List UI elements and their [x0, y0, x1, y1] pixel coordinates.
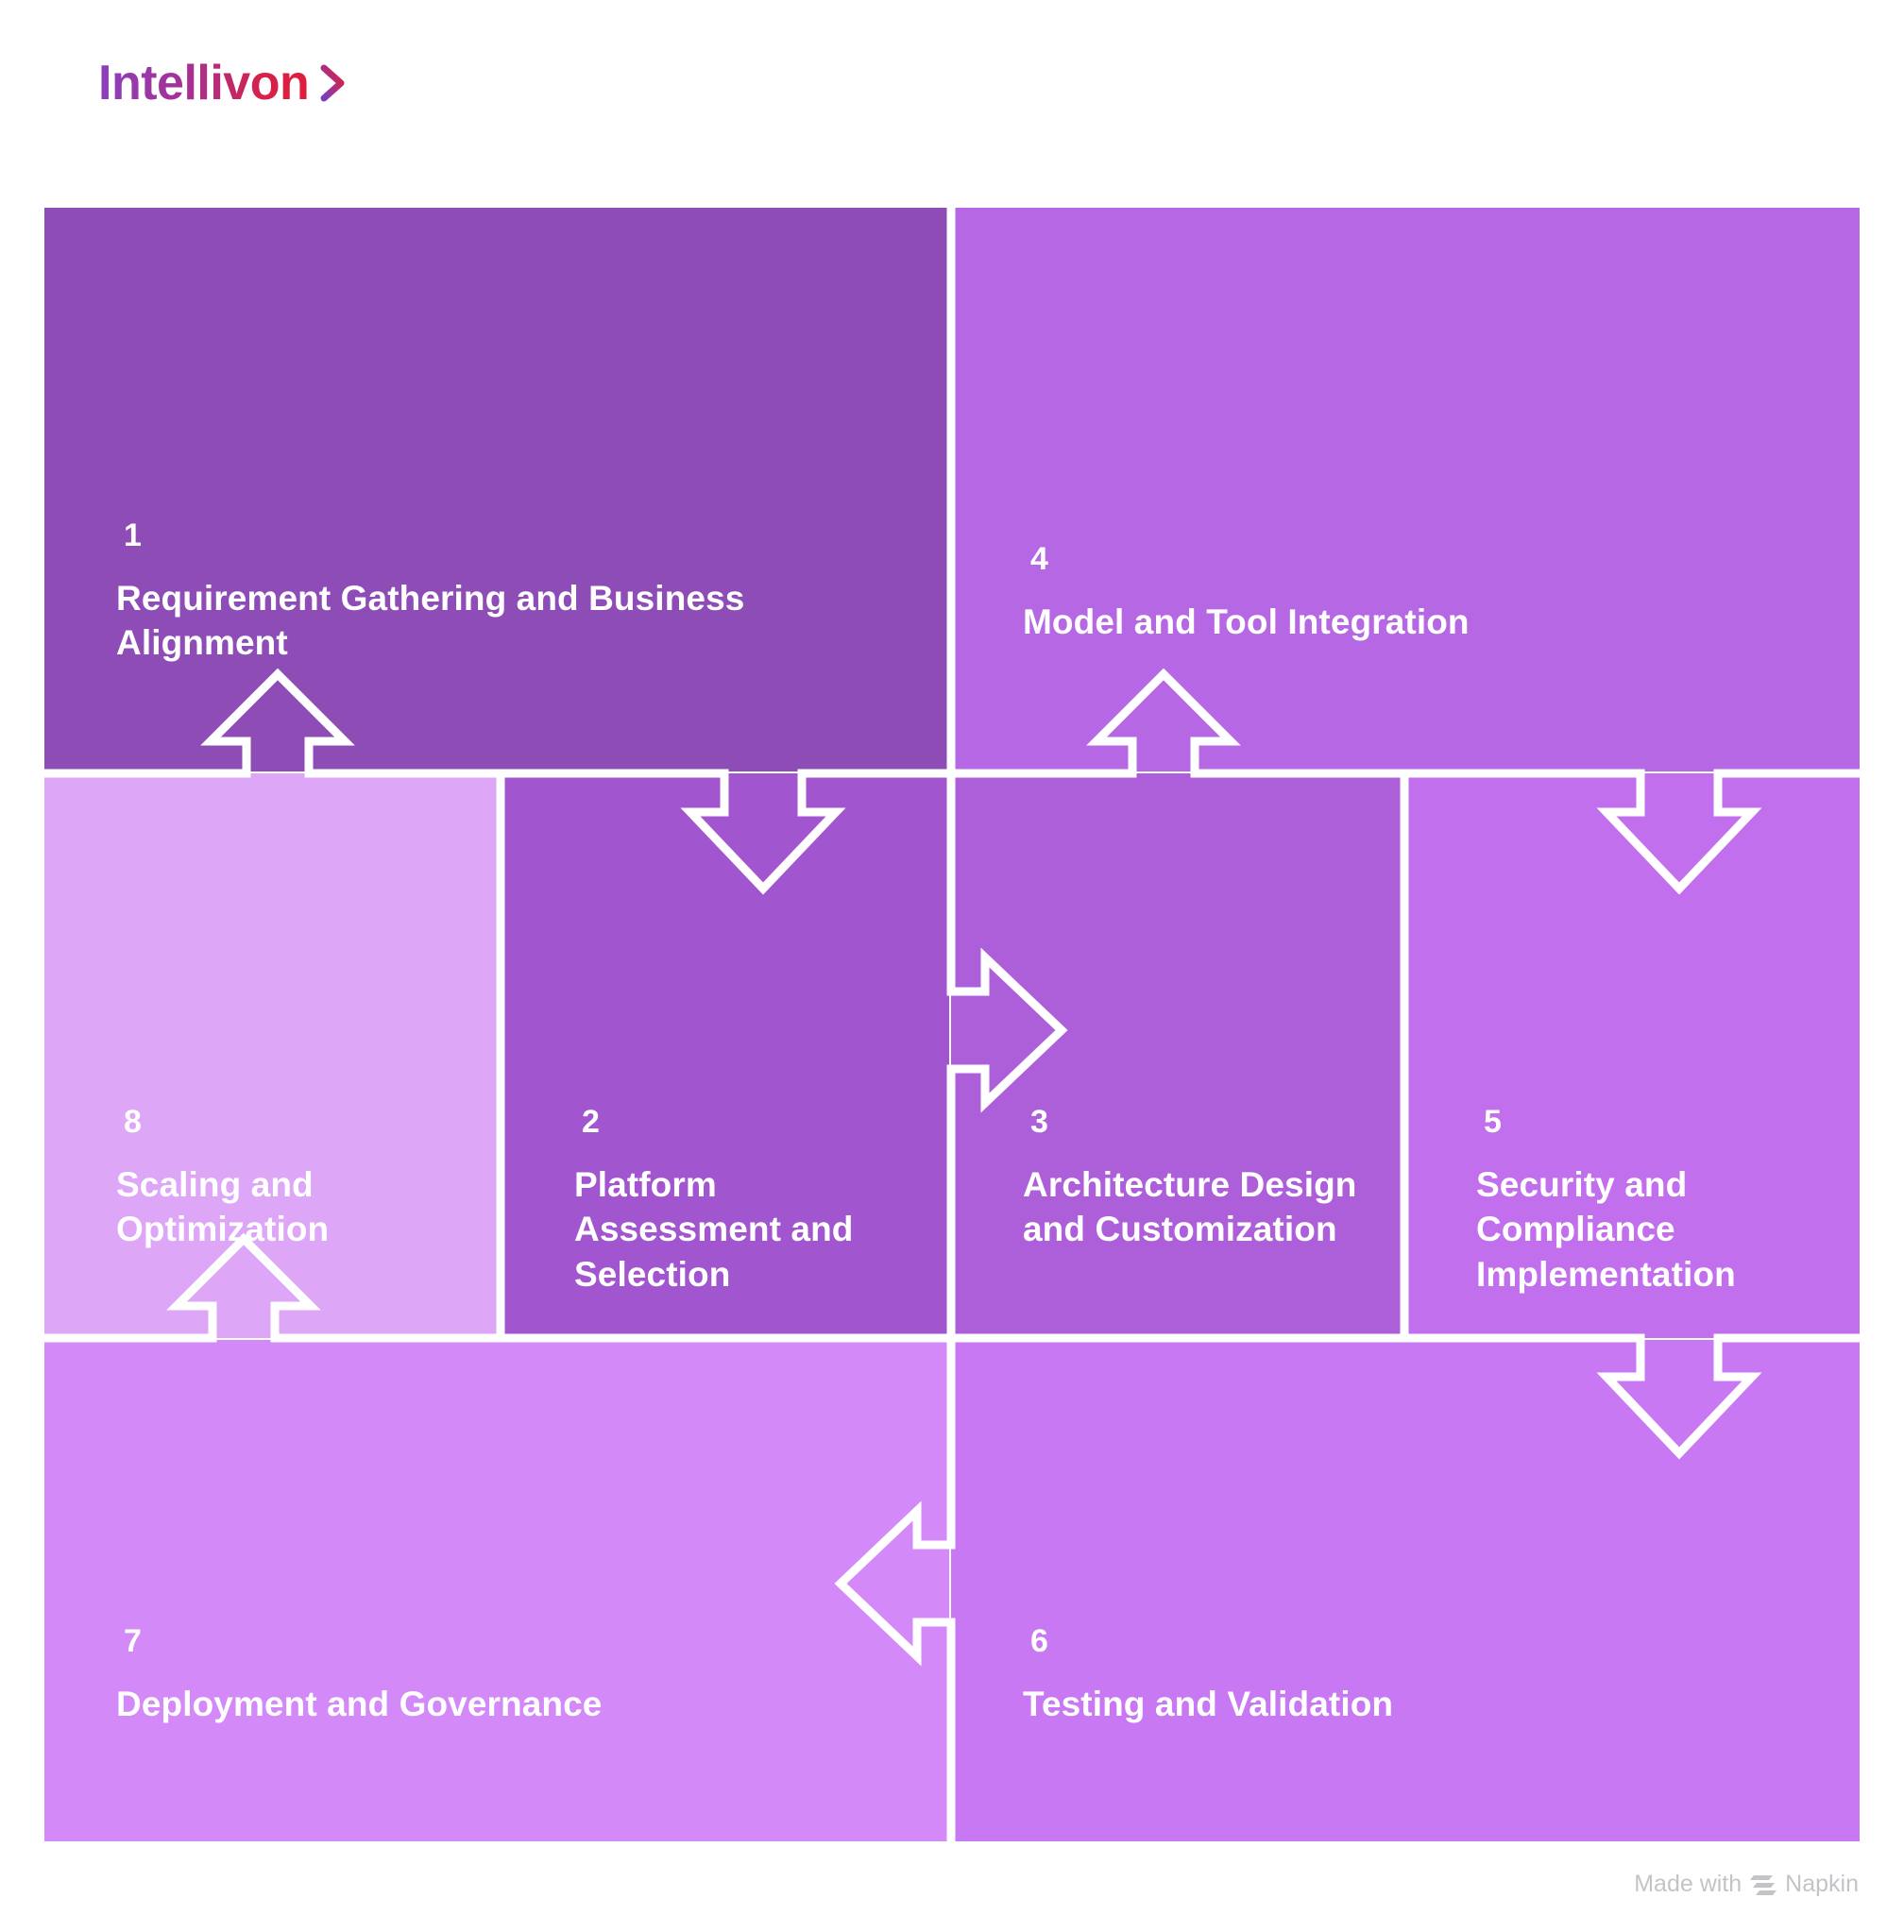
- step-label-4: Model and Tool Integration: [1023, 600, 1822, 644]
- step-label-7: Deployment and Governance: [116, 1682, 911, 1726]
- chevron-right-icon: [316, 59, 350, 108]
- step-card-2[interactable]: 2 Platform Assessment and Selection: [502, 773, 949, 1338]
- step-label-2: Platform Assessment and Selection: [574, 1162, 911, 1296]
- napkin-logo-icon: [1750, 1873, 1776, 1897]
- brand-name: Intellivon: [98, 59, 309, 108]
- step-card-4[interactable]: 4 Model and Tool Integration: [951, 208, 1860, 771]
- step-number-1: 1: [116, 519, 911, 551]
- step-label-5: Security and Compliance Implementation: [1476, 1162, 1822, 1296]
- made-with-napkin-footer[interactable]: Made with Napkin: [1634, 1871, 1859, 1898]
- step-number-7: 7: [116, 1625, 911, 1657]
- step-number-2: 2: [574, 1106, 911, 1138]
- step-number-4: 4: [1023, 543, 1822, 575]
- step-label-1: Requirement Gathering and Business Align…: [116, 576, 911, 666]
- made-with-label: Made with: [1634, 1871, 1742, 1898]
- napkin-label: Napkin: [1785, 1871, 1859, 1898]
- step-number-6: 6: [1023, 1625, 1822, 1657]
- step-number-8: 8: [116, 1106, 463, 1138]
- brand-logo: Intellivon: [98, 59, 350, 108]
- step-card-3[interactable]: 3 Architecture Design and Customization: [951, 773, 1402, 1338]
- step-card-6[interactable]: 6 Testing and Validation: [951, 1340, 1860, 1841]
- step-card-8[interactable]: 8 Scaling and Optimization: [44, 773, 501, 1338]
- step-label-8: Scaling and Optimization: [116, 1162, 463, 1252]
- process-flow-diagram: 1 Requirement Gathering and Business Ali…: [44, 208, 1860, 1841]
- step-number-3: 3: [1023, 1106, 1365, 1138]
- step-card-5[interactable]: 5 Security and Compliance Implementation: [1404, 773, 1860, 1338]
- step-label-3: Architecture Design and Customization: [1023, 1162, 1365, 1252]
- step-label-6: Testing and Validation: [1023, 1682, 1822, 1726]
- step-number-5: 5: [1476, 1106, 1822, 1138]
- step-card-7[interactable]: 7 Deployment and Governance: [44, 1340, 949, 1841]
- step-card-1[interactable]: 1 Requirement Gathering and Business Ali…: [44, 208, 949, 771]
